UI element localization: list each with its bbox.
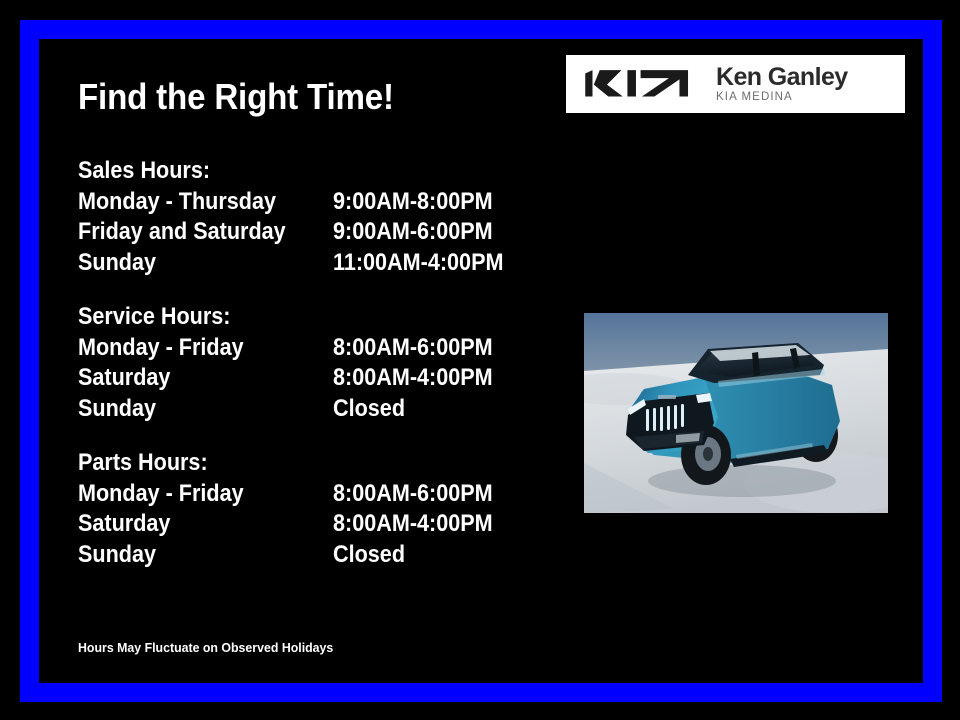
- hours-row: SundayClosed: [78, 540, 548, 571]
- hours-section: Sales Hours:Monday - Thursday9:00AM-8:00…: [78, 156, 548, 278]
- hours-section-heading: Parts Hours:: [78, 448, 501, 479]
- hours-row-time: Closed: [333, 540, 405, 571]
- kia-wordmark-icon: [578, 68, 690, 100]
- hours-section: Parts Hours:Monday - Friday8:00AM-6:00PM…: [78, 448, 548, 570]
- holiday-disclaimer: Hours May Fluctuate on Observed Holidays: [78, 640, 333, 655]
- hours-row: Saturday8:00AM-4:00PM: [78, 509, 548, 540]
- hours-row-time: 9:00AM-8:00PM: [333, 187, 493, 218]
- hours-row-days: Saturday: [78, 363, 308, 394]
- hours-row-time: Closed: [333, 394, 405, 425]
- hours-row-days: Monday - Friday: [78, 479, 308, 510]
- hours-row-time: 8:00AM-4:00PM: [333, 509, 493, 540]
- dealer-name-group: Ken Ganley KIA MEDINA: [716, 64, 848, 104]
- hours-row-days: Sunday: [78, 394, 308, 425]
- hours-row: Friday and Saturday9:00AM-6:00PM: [78, 217, 548, 248]
- hours-row-days: Friday and Saturday: [78, 217, 308, 248]
- hours-row-days: Monday - Friday: [78, 333, 308, 364]
- hours-section-heading: Sales Hours:: [78, 156, 501, 187]
- hours-row-days: Sunday: [78, 248, 308, 279]
- hours-row-time: 8:00AM-6:00PM: [333, 479, 493, 510]
- hours-row-time: 8:00AM-4:00PM: [333, 363, 493, 394]
- hours-row-days: Sunday: [78, 540, 308, 571]
- hours-row-time: 8:00AM-6:00PM: [333, 333, 493, 364]
- dealer-location: KIA MEDINA: [716, 90, 848, 104]
- hours-row: Monday - Friday8:00AM-6:00PM: [78, 479, 548, 510]
- hours-row-time: 9:00AM-6:00PM: [333, 217, 493, 248]
- hours-row: Sunday11:00AM-4:00PM: [78, 248, 548, 279]
- dealership-hours-slide: Find the Right Time! Ken Ganley KIA MEDI…: [0, 0, 960, 720]
- dealer-name: Ken Ganley: [716, 64, 848, 90]
- hours-row-days: Saturday: [78, 509, 308, 540]
- hours-row-days: Monday - Thursday: [78, 187, 308, 218]
- dealer-logo-lockup: Ken Ganley KIA MEDINA: [566, 55, 905, 113]
- vehicle-photo: [584, 313, 888, 513]
- hours-row: Monday - Friday8:00AM-6:00PM: [78, 333, 548, 364]
- hours-row: Saturday8:00AM-4:00PM: [78, 363, 548, 394]
- hours-row-time: 11:00AM-4:00PM: [333, 248, 503, 279]
- page-title: Find the Right Time!: [78, 76, 394, 117]
- hours-row: Monday - Thursday9:00AM-8:00PM: [78, 187, 548, 218]
- hours-section: Service Hours:Monday - Friday8:00AM-6:00…: [78, 302, 548, 424]
- hours-block: Sales Hours:Monday - Thursday9:00AM-8:00…: [78, 156, 548, 570]
- hours-row: SundayClosed: [78, 394, 548, 425]
- hours-section-heading: Service Hours:: [78, 302, 501, 333]
